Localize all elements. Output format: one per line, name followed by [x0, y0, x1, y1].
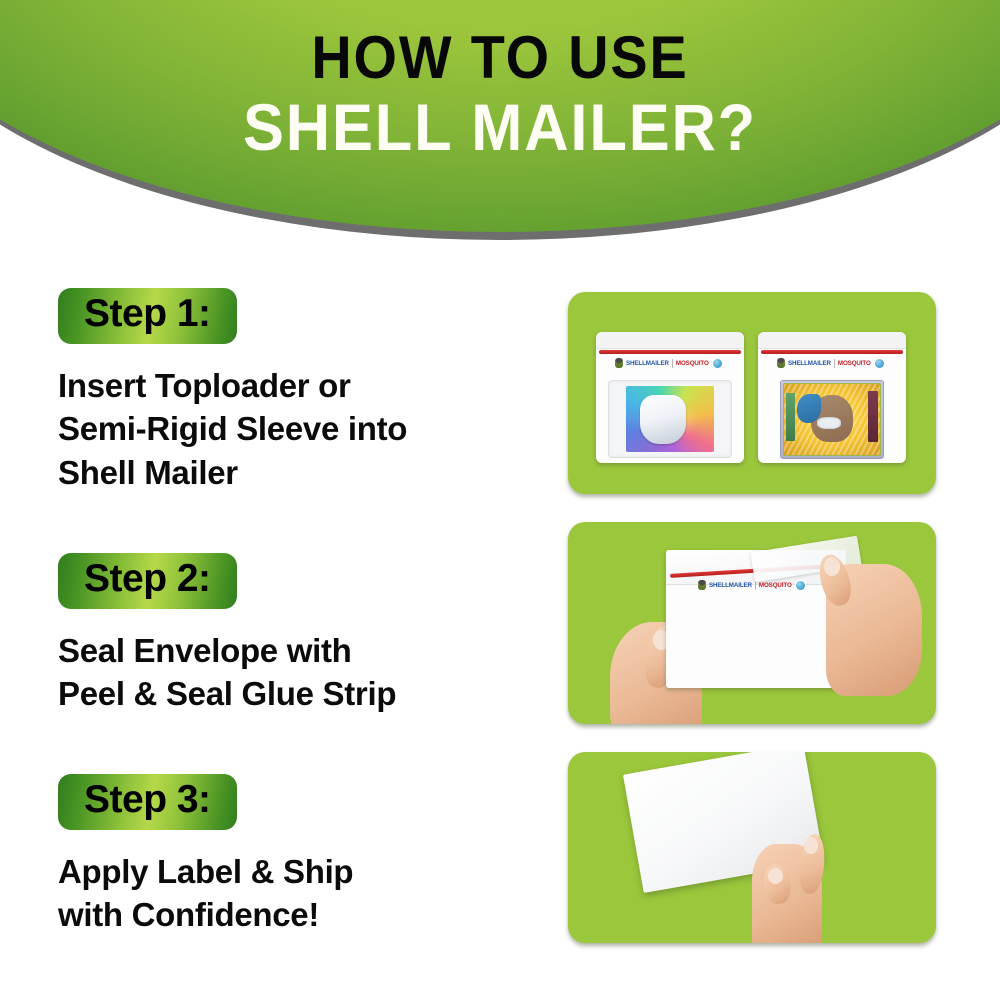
right-index-nail [824, 557, 840, 576]
step-badge-2: Step 2: [58, 553, 237, 609]
card-right-band [868, 391, 878, 442]
graded-card-face [783, 383, 881, 456]
brand-label-left: SHELLMAILER MOSQUITO [615, 358, 723, 368]
graded-card-slab [780, 380, 884, 459]
brand-name-center: SHELLMAILER [709, 582, 752, 589]
step-badge-3: Step 3: [58, 774, 237, 830]
envelope-flap-left [596, 332, 744, 349]
step-description-2: Seal Envelope with Peel & Seal Glue Stri… [58, 629, 528, 716]
header-banner: HOW TO USE SHELL MAILER? [0, 0, 1000, 268]
brand-sub-center: MOSQUITO [759, 582, 792, 589]
step-3-line-1: Apply Label & Ship [58, 850, 528, 894]
brand-divider [672, 359, 673, 368]
photo-panel-step-2: SHELLMAILER MOSQUITO [568, 522, 936, 724]
steps-column: Step 1: Insert Toploader or Semi-Rigid S… [58, 288, 528, 937]
glue-strip-left [599, 350, 741, 354]
trading-card-foil [626, 386, 714, 452]
mascot-icon [698, 580, 706, 590]
step-block-3: Step 3: Apply Label & Ship with Confiden… [58, 774, 528, 937]
brand-sub-left: MOSQUITO [676, 360, 709, 367]
brand-seal-icon [712, 358, 723, 369]
toploader-sleeve-left [608, 380, 732, 458]
brand-divider [834, 359, 835, 368]
step-block-1: Step 1: Insert Toploader or Semi-Rigid S… [58, 288, 528, 495]
card-character-art [811, 395, 853, 442]
step-description-3: Apply Label & Ship with Confidence! [58, 850, 528, 937]
mailer-envelope-left: SHELLMAILER MOSQUITO [596, 332, 744, 463]
brand-name-right: SHELLMAILER [788, 360, 831, 367]
mailer-envelope-right: SHELLMAILER MOSQUITO [758, 332, 906, 463]
brand-label-center: SHELLMAILER MOSQUITO [698, 580, 806, 590]
brand-label-right: SHELLMAILER MOSQUITO [777, 358, 885, 368]
step-description-1: Insert Toploader or Semi-Rigid Sleeve in… [58, 364, 528, 495]
glue-strip-right [761, 350, 903, 354]
brand-seal-icon [795, 580, 806, 591]
photo-panel-step-3 [568, 752, 936, 943]
title-line-2: SHELL MAILER? [35, 94, 965, 160]
page-title: HOW TO USE SHELL MAILER? [0, 28, 1000, 160]
step-2-line-1: Seal Envelope with [58, 629, 528, 673]
step-2-line-2: Peel & Seal Glue Strip [58, 672, 528, 716]
step-1-line-3: Shell Mailer [58, 451, 528, 495]
poster-canvas: HOW TO USE SHELL MAILER? Step 1: Insert … [0, 0, 1000, 1000]
brand-seal-icon [874, 358, 885, 369]
brand-sub-right: MOSQUITO [838, 360, 871, 367]
photo-panel-step-1: SHELLMAILER MOSQUITO SHELLMAILER MOSQUIT… [568, 292, 936, 494]
holding-index-nail [804, 837, 818, 854]
step-1-line-1: Insert Toploader or [58, 364, 528, 408]
mascot-icon [615, 358, 623, 368]
envelope-flap-right [758, 332, 906, 349]
card-left-band [786, 393, 795, 441]
step-badge-1: Step 1: [58, 288, 237, 344]
step-1-line-2: Semi-Rigid Sleeve into [58, 407, 528, 451]
holding-middle-nail [768, 868, 783, 884]
title-line-1: HOW TO USE [35, 28, 965, 88]
mascot-icon [777, 358, 785, 368]
step-3-line-2: with Confidence! [58, 893, 528, 937]
brand-name-left: SHELLMAILER [626, 360, 669, 367]
step-block-2: Step 2: Seal Envelope with Peel & Seal G… [58, 553, 528, 716]
